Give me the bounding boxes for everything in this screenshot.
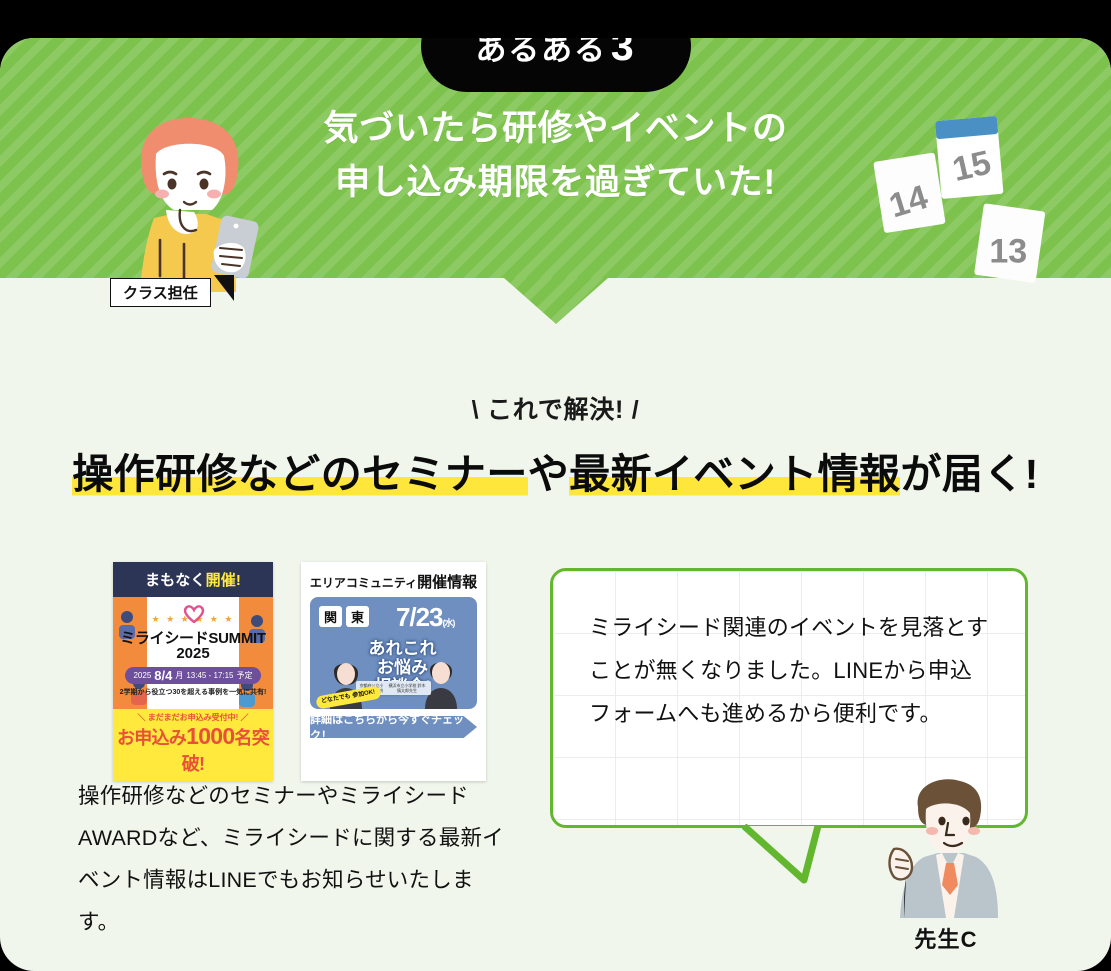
aruaru-badge: あるある3: [421, 38, 691, 92]
banner1-bottom-num: 1000: [186, 723, 234, 749]
teacher-a-name-tag: クラス担任: [110, 278, 211, 307]
banner2-date-day: (水): [442, 618, 454, 628]
banner2-date-value: 7/23: [396, 602, 442, 632]
banner1-top-yellow: 開催!: [206, 572, 241, 589]
svg-text:13: 13: [989, 233, 1027, 271]
banner2-caption-right: 横浜市立小学校 鈴木 慎太郎先生: [383, 681, 431, 695]
headline-highlight-2: 最新イベント情報: [569, 451, 900, 497]
banner1-date-year: 2025: [133, 671, 151, 680]
badge-label: あるある: [475, 38, 606, 69]
banner1-bottom-small: ＼ まだまだお申込み受付中! ／: [113, 712, 273, 723]
banner2-head-normal: エリアコミュニティ: [310, 576, 417, 590]
headline-mid: や: [528, 451, 569, 497]
banner-summit-2025[interactable]: まもなく開催! ★ ★ ★ ★ ★ ★ ミライシードSUMMIT 2025: [113, 562, 273, 781]
calendar-pages-illustration: 15 14 13: [855, 116, 1065, 296]
banner-list: まもなく開催! ★ ★ ★ ★ ★ ★ ミライシードSUMMIT 2025: [113, 562, 486, 781]
banner1-time: 13:45 - 17:15: [186, 671, 233, 680]
banner2-heading: エリアコミュニティ開催情報: [301, 562, 486, 597]
banner1-bottom-pre: お申込み: [117, 728, 186, 748]
testimonial-quote: ミライシード関連のイベントを見落とすことが無くなりました。LINEから申込フォー…: [553, 571, 1025, 736]
banner1-artwork: ★ ★ ★ ★ ★ ★ ミライシードSUMMIT 2025 2025 8/4 月…: [113, 597, 273, 709]
banner2-msg-line1: あれこれ: [310, 639, 477, 658]
banner2-footer[interactable]: 詳細はこちらから今すぐチェック！: [301, 716, 486, 738]
banner2-region-2: 東: [346, 606, 369, 627]
badge-number: 3: [611, 38, 636, 67]
banner2-head-bold: 開催情報: [417, 574, 477, 591]
banner1-time-note: 予定: [237, 670, 253, 681]
headline-highlight-1: 操作研修などのセミナー: [72, 451, 528, 497]
banner1-bottom-big: お申込み1000名突破!: [113, 723, 273, 776]
bubble-tail-icon: [742, 824, 848, 884]
aruaru-card: 気づいたら研修やイベントの 申し込み期限を過ぎていた! クラス担任 15: [0, 38, 1111, 971]
teacher-c-illustration: [866, 773, 1026, 918]
banner2-region: 関 東: [319, 606, 369, 627]
banner1-date: 8/4: [154, 668, 172, 683]
banner-area-community[interactable]: エリアコミュニティ開催情報 関 東 7/23(水) あれこれ お悩み 相談会!: [301, 562, 486, 781]
banner2-artwork: 関 東 7/23(水) あれこれ お悩み 相談会!: [310, 597, 477, 709]
banner2-region-1: 関: [319, 606, 342, 627]
teacher-c-name-label: 先生C: [866, 922, 1026, 954]
banner1-bottom-strip: ＼ まだまだお申込み受付中! ／ お申込み1000名突破!: [113, 709, 273, 781]
description-paragraph: 操作研修などのセミナーやミライシードAWARDなど、ミライシードに関する最新イベ…: [78, 776, 508, 944]
banner1-year: 2025: [113, 645, 273, 662]
solution-eyebrow: \ これで解決! /: [0, 390, 1111, 426]
banner1-top-strip: まもなく開催!: [113, 562, 273, 597]
banner1-heart-icon: [183, 605, 205, 623]
banner1-top-white: まもなく: [145, 572, 206, 589]
header-notch-icon: [504, 278, 608, 324]
solution-headline: 操作研修などのセミナーや最新イベント情報が届く!: [0, 440, 1111, 500]
banner2-footer-arrow[interactable]: 詳細はこちらから今すぐチェック！: [310, 716, 477, 738]
name-tag-pointer-icon: [214, 275, 238, 303]
banner2-date: 7/23(水): [396, 602, 454, 633]
banner1-date-pill: 2025 8/4 月 13:45 - 17:15 予定: [125, 667, 261, 684]
banner1-subtitle: 2学期から役立つ30を超える事例を一気に共有!: [113, 687, 273, 697]
banner1-date-day: 月: [175, 670, 183, 681]
headline-tail: が届く!: [900, 451, 1038, 497]
